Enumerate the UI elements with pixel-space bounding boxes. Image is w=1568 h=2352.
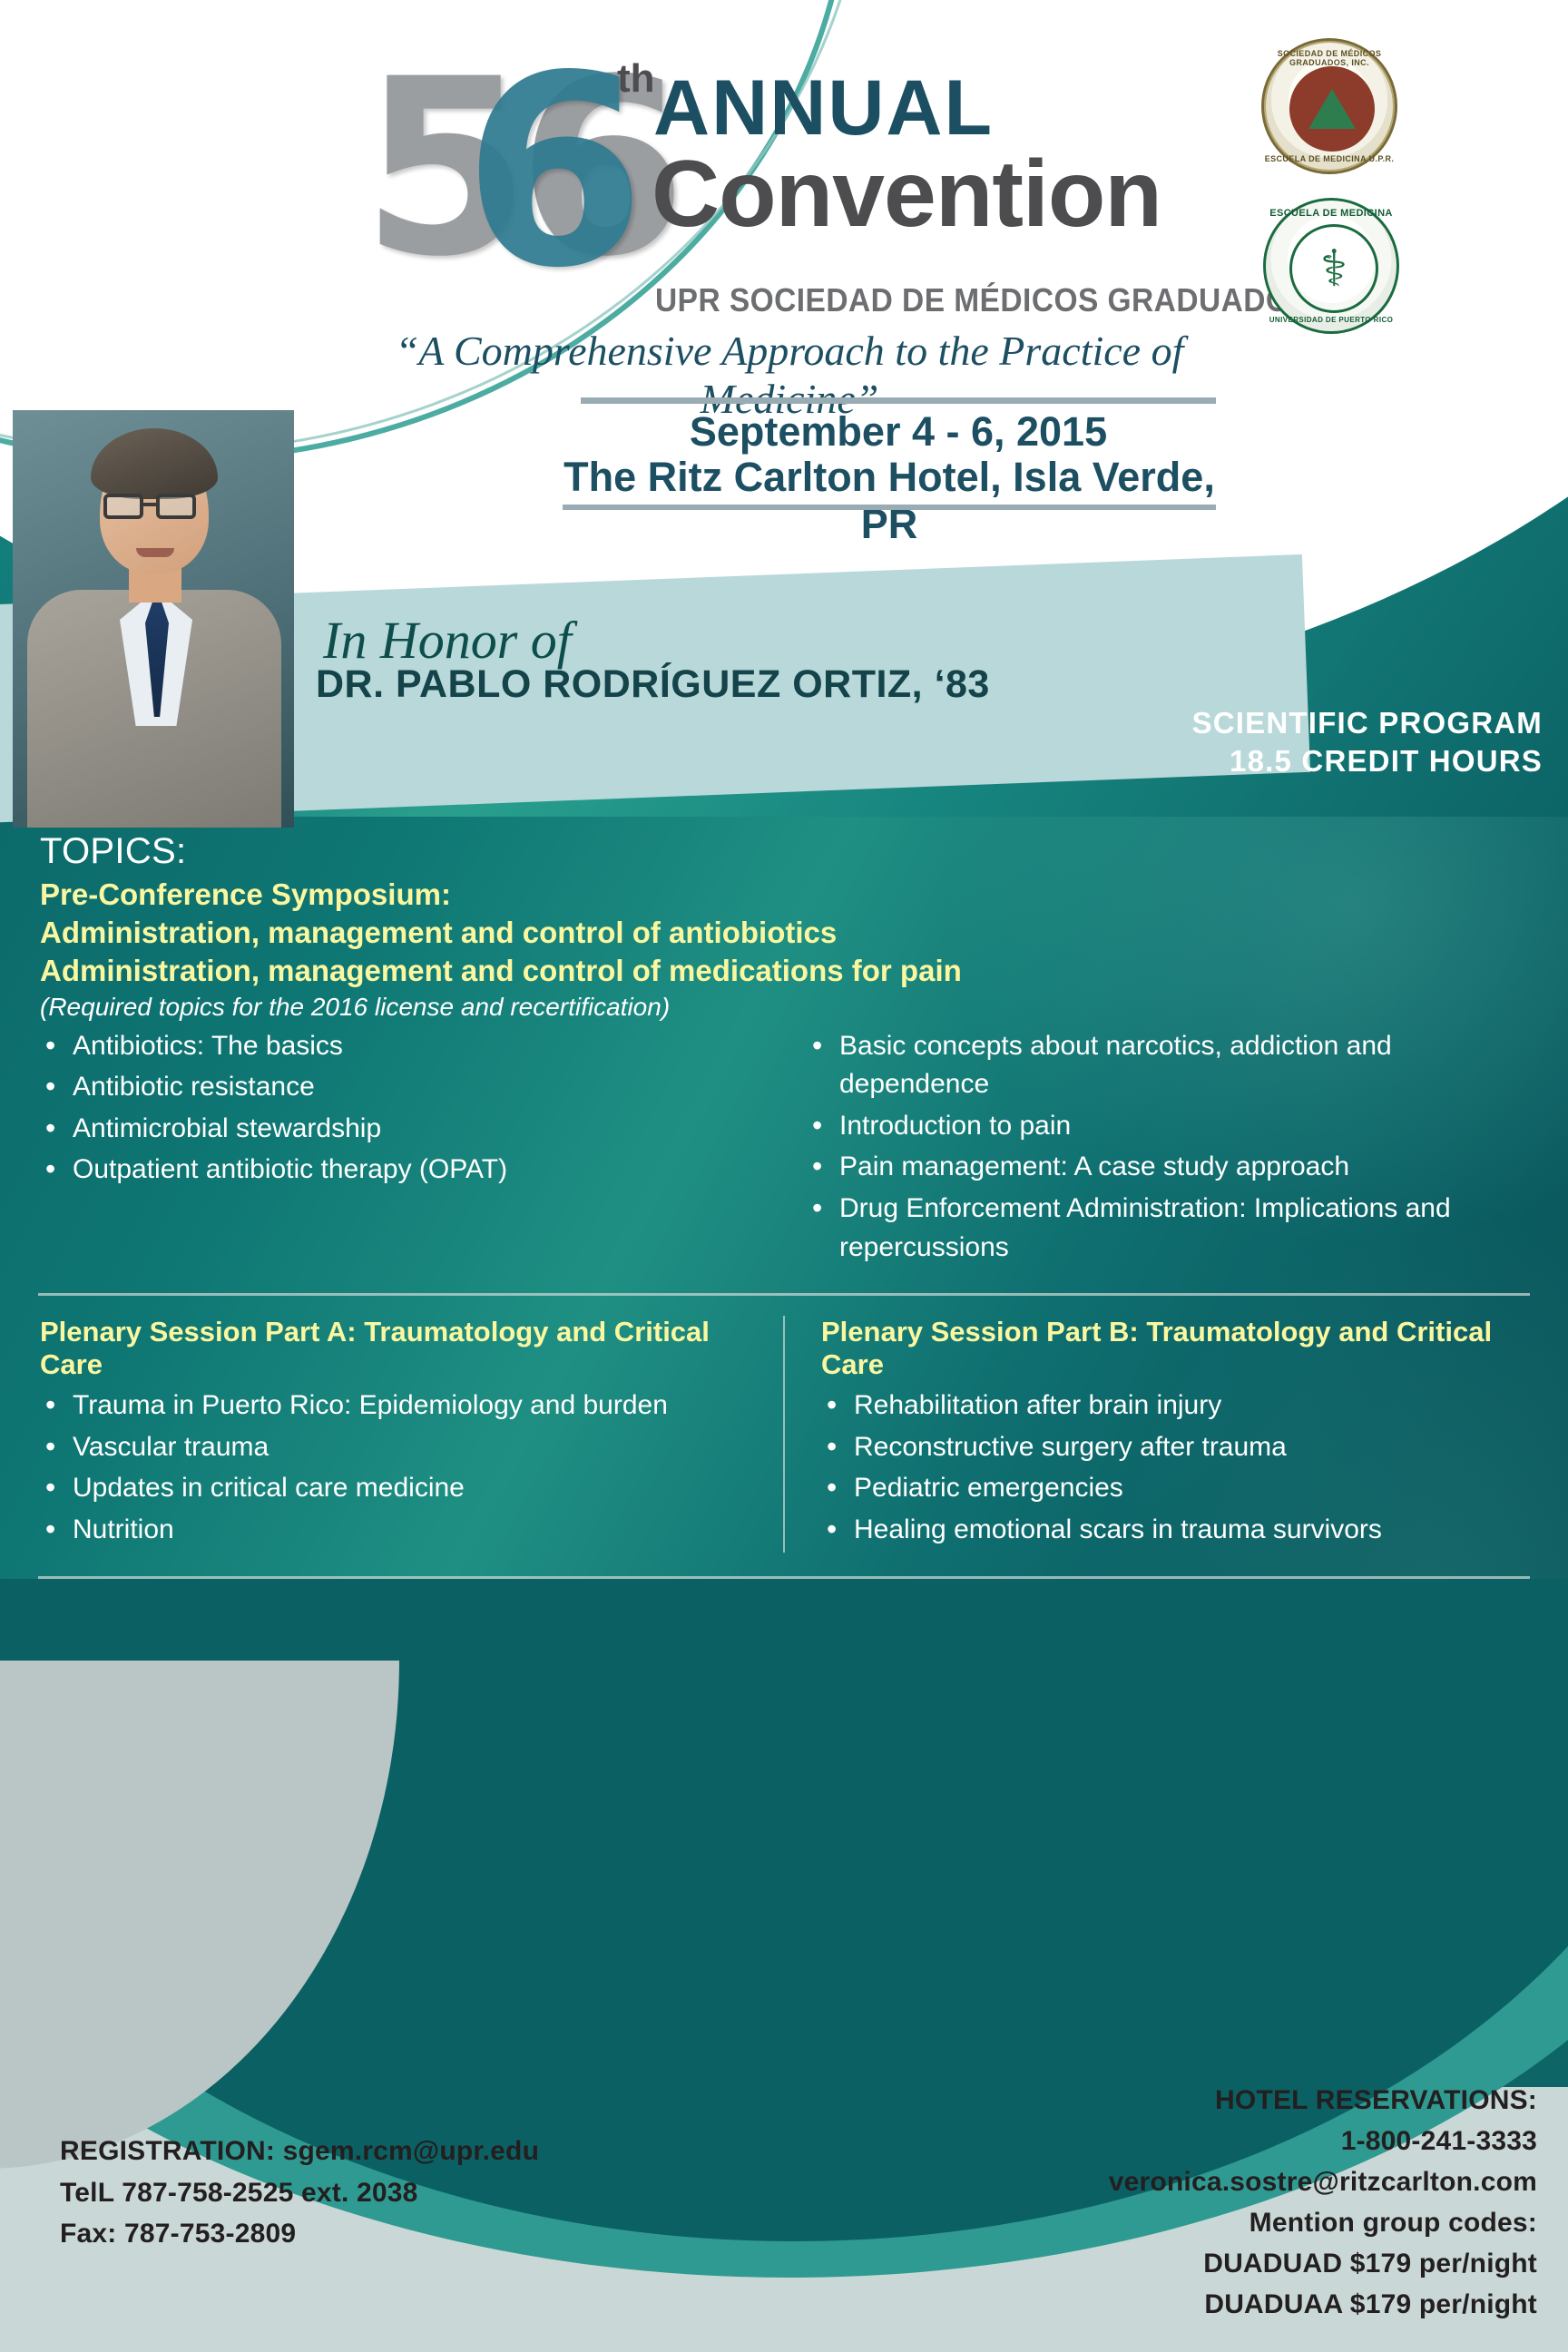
plenary-part-a-list: Trauma in Puerto Rico: Epidemiology and … xyxy=(31,1387,756,1549)
plenary-part-a-title: Plenary Session Part A: Traumatology and… xyxy=(40,1316,756,1381)
registration-phone-line[interactable]: TelL 787-758-2525 ext. 2038 xyxy=(60,2172,539,2214)
preconference-title-2: Administration, management and control o… xyxy=(40,952,1537,990)
preconference-title-1: Administration, management and control o… xyxy=(40,914,1537,952)
honoree-name: DR. PABLO RODRÍGUEZ ORTIZ, ‘83 xyxy=(316,662,990,707)
convention-word: Convention xyxy=(652,141,1161,249)
sgem-seal-icon: SOCIEDAD DE MÉDICOS GRADUADOS, INC. ESCU… xyxy=(1261,38,1397,174)
list-item: Updates in critical care medicine xyxy=(31,1469,756,1508)
scientific-program-badge: SCIENTIFIC PROGRAM 18.5 CREDIT HOURS xyxy=(1192,704,1543,780)
registration-fax-line: Fax: 787-753-2809 xyxy=(60,2213,539,2255)
topics-right-column: Basic concepts about narcotics, addictio… xyxy=(798,1027,1537,1270)
seal-left-top-text: SOCIEDAD DE MÉDICOS GRADUADOS, INC. xyxy=(1264,49,1395,67)
list-item: Pediatric emergencies xyxy=(812,1469,1537,1508)
list-item: Antibiotics: The basics xyxy=(31,1027,770,1066)
list-item: Trauma in Puerto Rico: Epidemiology and … xyxy=(31,1387,756,1426)
hotel-reservations-block: HOTEL RESERVATIONS: 1-800-241-3333 veron… xyxy=(1109,2080,1537,2325)
topics-right-list: Basic concepts about narcotics, addictio… xyxy=(798,1027,1537,1268)
plenary-trauma-part-a: Plenary Session Part A: Traumatology and… xyxy=(31,1316,756,1552)
in-honor-of-label: In Honor of xyxy=(323,610,572,671)
caduceus-icon: ⚕ xyxy=(1289,224,1378,313)
plenary-trauma-section: Plenary Session Part A: Traumatology and… xyxy=(31,1316,1537,1552)
convention-date: September 4 - 6, 2015 xyxy=(581,408,1216,456)
scientific-program-line1: SCIENTIFIC PROGRAM xyxy=(1192,704,1543,742)
list-item: Pain management: A case study approach xyxy=(798,1148,1537,1187)
portrait-glasses-bridge xyxy=(143,503,158,506)
seal-right-top-text: ESCUELA DE MEDICINA xyxy=(1266,208,1396,219)
poster-root: 56 6 th ANNUAL Convention UPR SOCIEDAD D… xyxy=(0,0,1568,2352)
plenary-part-b-title: Plenary Session Part B: Traumatology and… xyxy=(821,1316,1537,1381)
medical-school-seal-icon: ESCUELA DE MEDICINA UNIVERSIDAD DE PUERT… xyxy=(1263,198,1399,334)
topics-left-column: Antibiotics: The basics Antibiotic resis… xyxy=(31,1027,770,1270)
registration-block: REGISTRATION: sgem.rcm@upr.edu TelL 787-… xyxy=(60,2131,539,2255)
divider-after-topics xyxy=(38,1293,1530,1296)
honoree-portrait xyxy=(13,410,294,828)
list-item: Antibiotic resistance xyxy=(31,1068,770,1107)
date-divider-bottom xyxy=(563,505,1216,510)
group-code-1: DUADUAD $179 per/night xyxy=(1109,2243,1537,2284)
plenary-part-b-list: Rehabilitation after brain injury Recons… xyxy=(812,1387,1537,1549)
preconference-label: Pre-Conference Symposium: xyxy=(40,876,1537,914)
portrait-glasses-right xyxy=(156,494,196,519)
group-code-2: DUADUAA $179 per/night xyxy=(1109,2284,1537,2325)
vertical-divider xyxy=(783,1316,785,1552)
list-item: Basic concepts about narcotics, addictio… xyxy=(798,1027,1537,1104)
ordinal-suffix: th xyxy=(617,56,655,102)
organization-name: UPR SOCIEDAD DE MÉDICOS GRADUADOS xyxy=(655,281,1310,319)
portrait-glasses-left xyxy=(103,494,143,519)
list-item: Healing emotional scars in trauma surviv… xyxy=(812,1511,1537,1550)
triangle-icon xyxy=(1308,89,1356,129)
topics-left-list: Antibiotics: The basics Antibiotic resis… xyxy=(31,1027,770,1190)
hotel-phone[interactable]: 1-800-241-3333 xyxy=(1109,2121,1537,2161)
list-item: Reconstructive surgery after trauma xyxy=(812,1428,1537,1467)
list-item: Nutrition xyxy=(31,1511,756,1550)
list-item: Rehabilitation after brain injury xyxy=(812,1387,1537,1426)
list-item: Introduction to pain xyxy=(798,1107,1537,1146)
convention-number-logo: 56 6 xyxy=(361,47,661,256)
convention-venue: The Ritz Carlton Hotel, Isla Verde, PR xyxy=(563,454,1216,548)
seal-left-emblem xyxy=(1289,66,1375,152)
plenary-trauma-part-b: Plenary Session Part B: Traumatology and… xyxy=(812,1316,1537,1552)
topics-columns: Antibiotics: The basics Antibiotic resis… xyxy=(31,1027,1537,1270)
list-item: Outpatient antibiotic therapy (OPAT) xyxy=(31,1151,770,1190)
seal-left-bottom-text: ESCUELA DE MEDICINA U.P.R. xyxy=(1264,154,1395,163)
hotel-email[interactable]: veronica.sostre@ritzcarlton.com xyxy=(1109,2161,1537,2202)
list-item: Vascular trauma xyxy=(31,1428,756,1467)
seal-right-bottom-text: UNIVERSIDAD DE PUERTO RICO xyxy=(1266,316,1396,324)
credit-hours-line: 18.5 CREDIT HOURS xyxy=(1192,742,1543,780)
hotel-reservations-label: HOTEL RESERVATIONS: xyxy=(1109,2080,1537,2121)
group-codes-label: Mention group codes: xyxy=(1109,2202,1537,2243)
registration-email-line[interactable]: REGISTRATION: sgem.rcm@upr.edu xyxy=(60,2131,539,2172)
list-item: Drug Enforcement Administration: Implica… xyxy=(798,1190,1537,1267)
topics-heading: TOPICS: xyxy=(40,831,1537,872)
portrait-smile xyxy=(136,548,174,557)
topics-required-note: (Required topics for the 2016 license an… xyxy=(40,993,1537,1022)
date-divider-top xyxy=(581,397,1216,404)
list-item: Antimicrobial stewardship xyxy=(31,1110,770,1149)
